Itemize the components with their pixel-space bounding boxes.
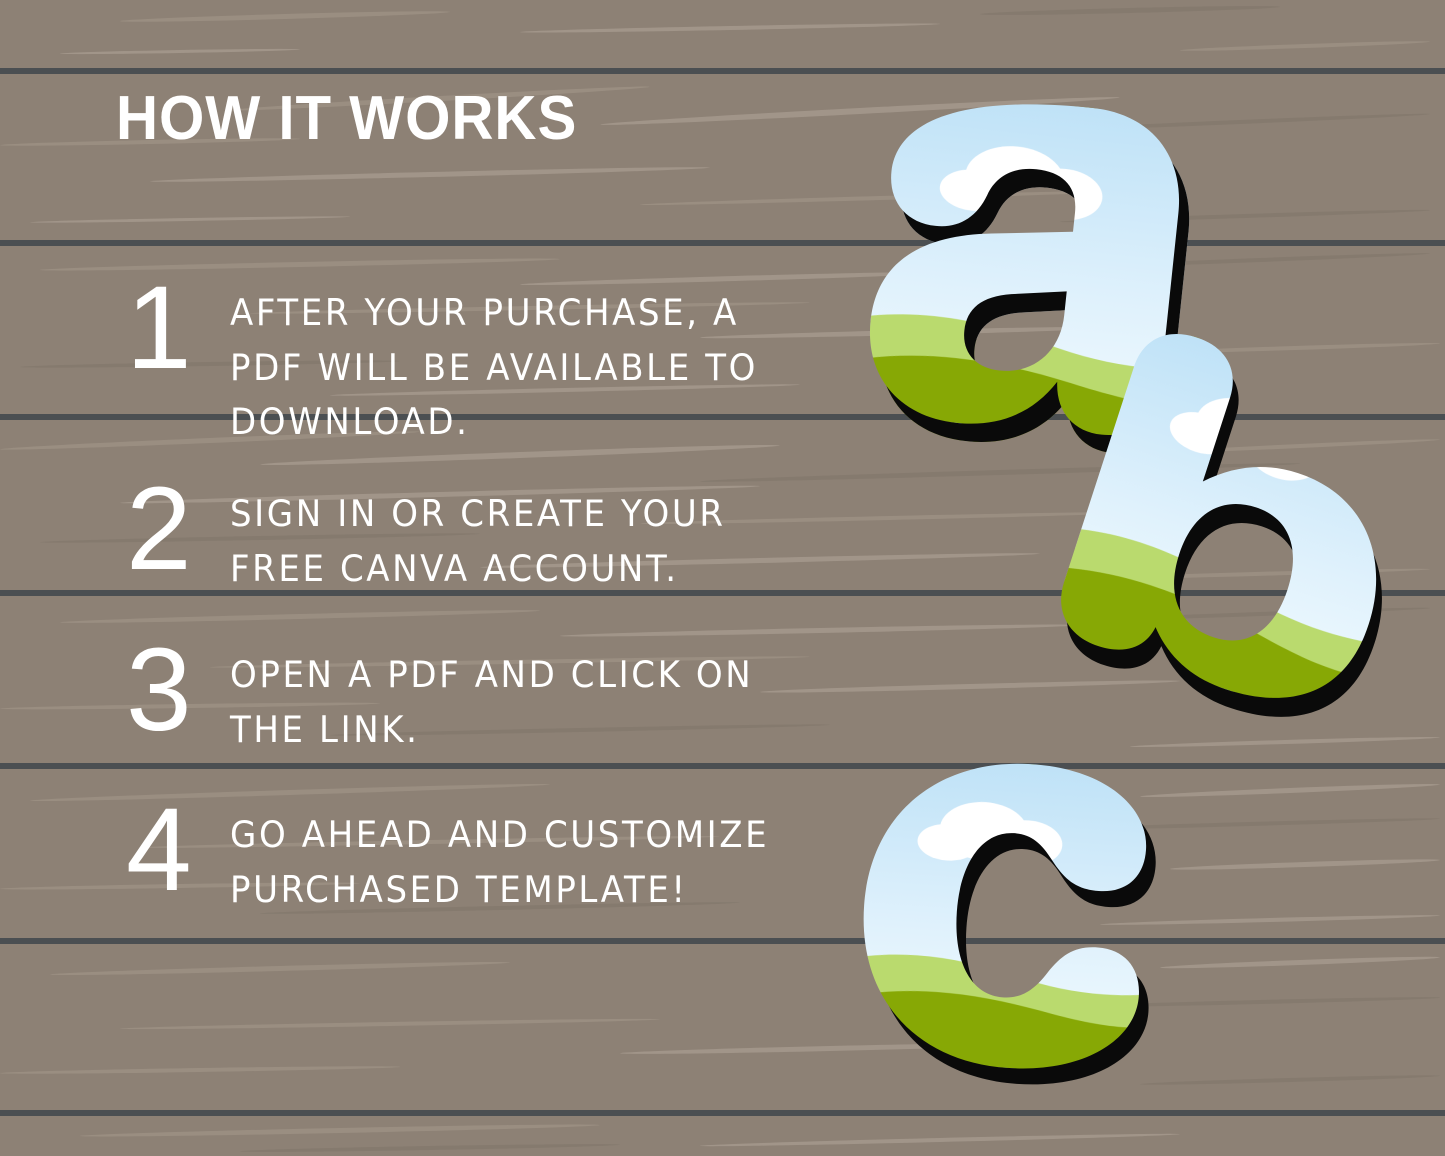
steps-list: 1 AFTER YOUR PURCHASE, A PDF WILL BE AVA… <box>112 272 832 911</box>
letter-c-artwork <box>825 707 1171 1118</box>
page-title: HOW IT WORKS <box>116 88 577 150</box>
list-item: 3 OPEN A PDF AND CLICK ON THE LINK. <box>112 634 832 751</box>
plank-separator-7 <box>0 1110 1445 1116</box>
plank-separator-1 <box>0 68 1445 74</box>
poster-canvas: HOW IT WORKS 1 AFTER YOUR PURCHASE, A PD… <box>0 0 1445 1156</box>
letter-c-face <box>853 753 1154 1077</box>
step-number: 1 <box>112 272 230 384</box>
plank-separator-6 <box>0 938 1445 944</box>
step-text: AFTER YOUR PURCHASE, A PDF WILL BE AVAIL… <box>230 272 800 451</box>
list-item: 2 SIGN IN OR CREATE YOUR FREE CANVA ACCO… <box>112 473 832 590</box>
step-number: 2 <box>112 473 230 585</box>
step-text: GO AHEAD AND CUSTOMIZE PURCHASED TEMPLAT… <box>230 794 800 918</box>
step-number: 3 <box>112 634 230 746</box>
plank-separator-2 <box>0 240 1445 246</box>
step-text: SIGN IN OR CREATE YOUR FREE CANVA ACCOUN… <box>230 473 800 597</box>
list-item: 4 GO AHEAD AND CUSTOMIZE PURCHASED TEMPL… <box>112 794 832 911</box>
list-item: 1 AFTER YOUR PURCHASE, A PDF WILL BE AVA… <box>112 272 832 441</box>
step-number: 4 <box>112 794 230 906</box>
step-text: OPEN A PDF AND CLICK ON THE LINK. <box>230 634 800 758</box>
